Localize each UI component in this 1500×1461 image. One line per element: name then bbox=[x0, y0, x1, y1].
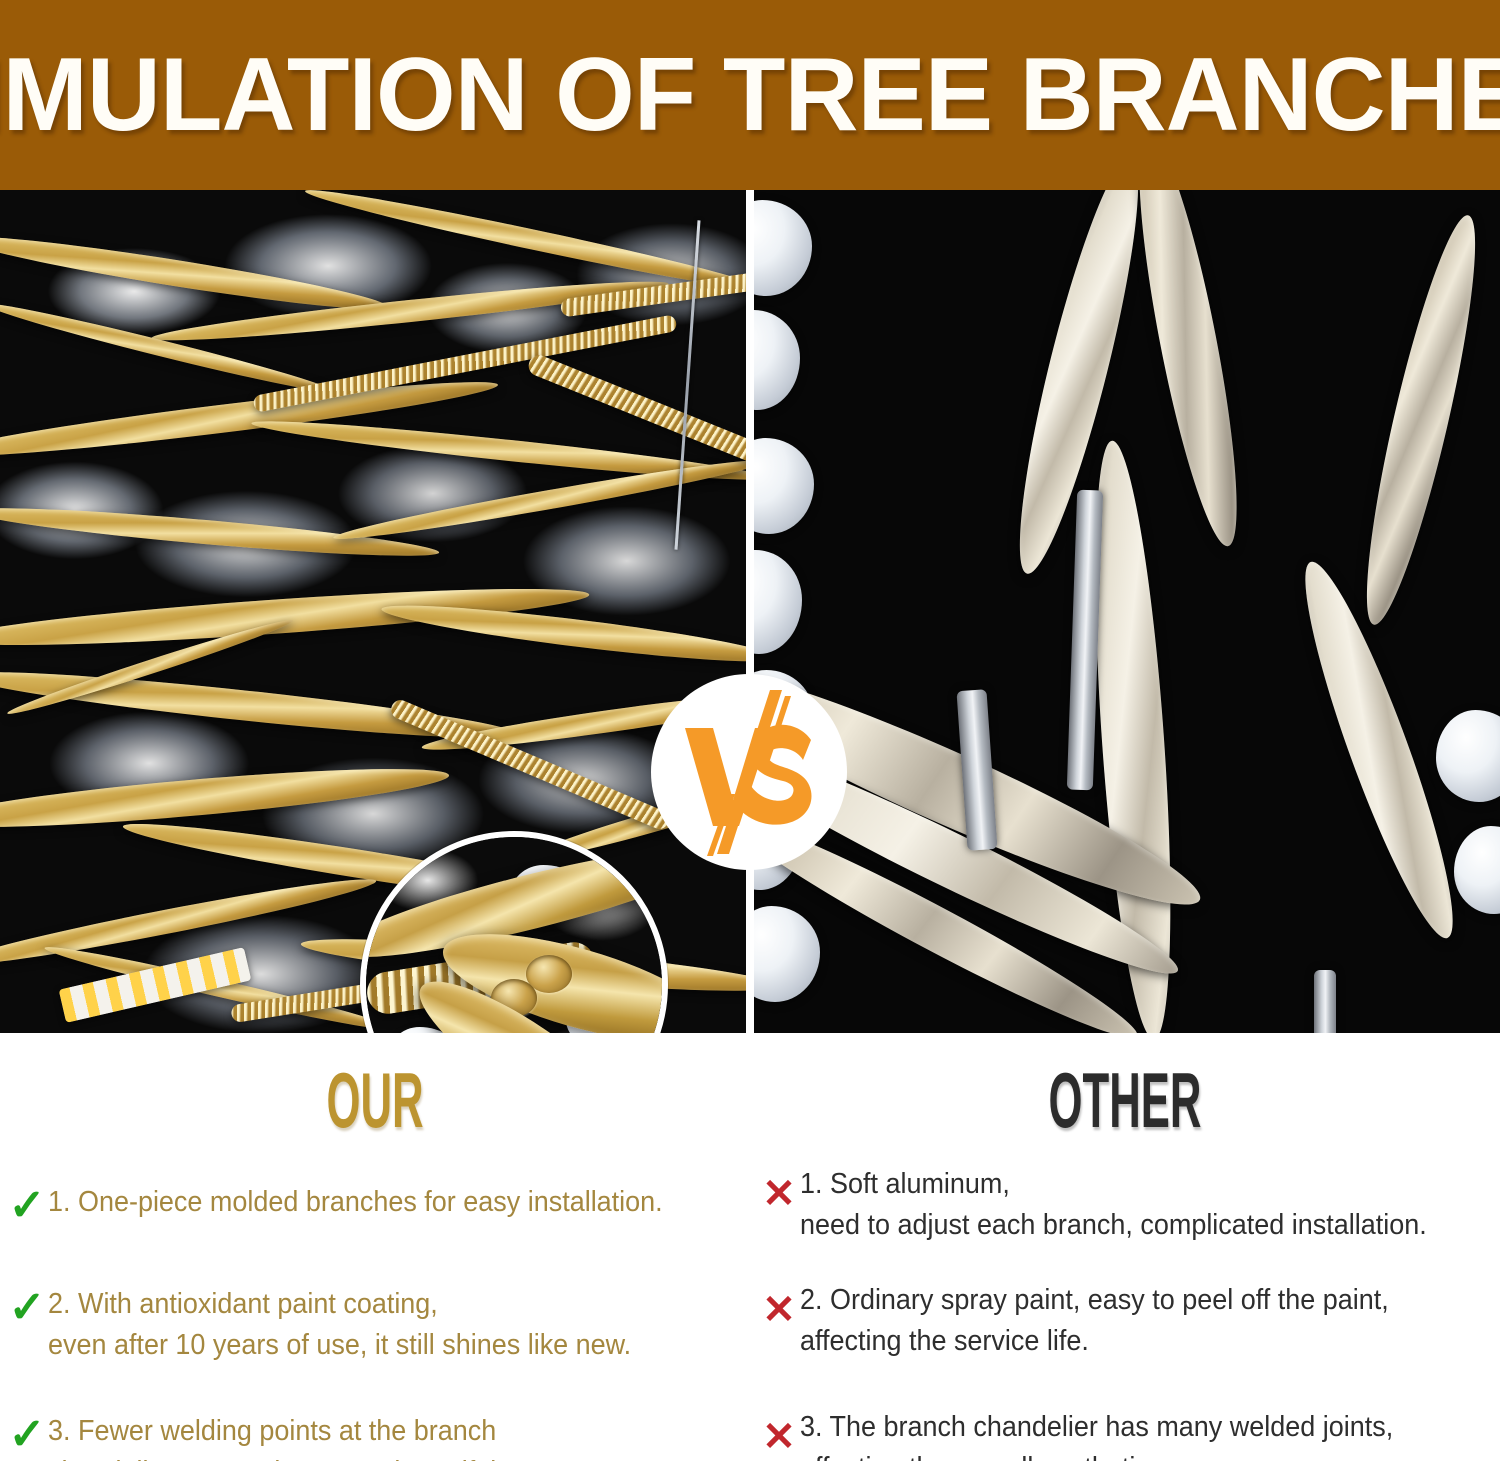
our-heading: OUR bbox=[165, 1061, 585, 1139]
list-item-label: 2. Ordinary spray paint, easy to peel of… bbox=[800, 1280, 1389, 1362]
cross-icon: ✕ bbox=[758, 1290, 800, 1330]
cross-icon: ✕ bbox=[758, 1174, 800, 1214]
list-item: ✕ 1. Soft aluminum, need to adjust each … bbox=[758, 1164, 1474, 1246]
list-item: ✓ 3. Fewer welding points at the branch … bbox=[6, 1411, 530, 1461]
photo-comparison-row bbox=[0, 190, 1500, 1033]
other-heading: OTHER bbox=[915, 1061, 1335, 1139]
panel-divider bbox=[746, 190, 754, 1033]
list-item: ✓ 2. With antioxidant paint coating, eve… bbox=[6, 1284, 675, 1366]
header-banner: SIMULATION OF TREE BRANCHES bbox=[0, 0, 1500, 190]
page-title: SIMULATION OF TREE BRANCHES bbox=[11, 0, 1489, 190]
list-item-label: 3. The branch chandelier has many welded… bbox=[800, 1407, 1393, 1461]
cross-icon: ✕ bbox=[758, 1417, 800, 1457]
check-icon: ✓ bbox=[6, 1413, 48, 1457]
list-item-label: 2. With antioxidant paint coating, even … bbox=[48, 1284, 631, 1366]
list-item-label: 3. Fewer welding points at the branch ch… bbox=[48, 1411, 496, 1461]
vs-badge bbox=[651, 674, 847, 870]
list-item: ✕ 3. The branch chandelier has many weld… bbox=[758, 1407, 1438, 1461]
zoom-inset-our-joint bbox=[360, 831, 668, 1033]
photo-other-product bbox=[754, 190, 1500, 1033]
product-comparison-infographic: SIMULATION OF TREE BRANCHES bbox=[0, 0, 1500, 1461]
list-item: ✕ 2. Ordinary spray paint, easy to peel … bbox=[758, 1280, 1433, 1362]
check-icon: ✓ bbox=[6, 1184, 48, 1228]
check-icon: ✓ bbox=[6, 1286, 48, 1330]
our-column: OUR ✓ 1. One-piece molded branches for e… bbox=[0, 1033, 750, 1461]
silver-branch-chandelier-scene bbox=[754, 190, 1500, 1033]
other-column: OTHER ✕ 1. Soft aluminum, need to adjust… bbox=[750, 1033, 1500, 1461]
feature-comparison: OUR ✓ 1. One-piece molded branches for e… bbox=[0, 1033, 1500, 1461]
vs-icon bbox=[651, 674, 847, 870]
list-item: ✓ 1. One-piece molded branches for easy … bbox=[6, 1182, 709, 1228]
photo-our-product bbox=[0, 190, 746, 1033]
list-item-label: 1. One-piece molded branches for easy in… bbox=[48, 1182, 663, 1223]
list-item-label: 1. Soft aluminum, need to adjust each br… bbox=[800, 1164, 1427, 1246]
